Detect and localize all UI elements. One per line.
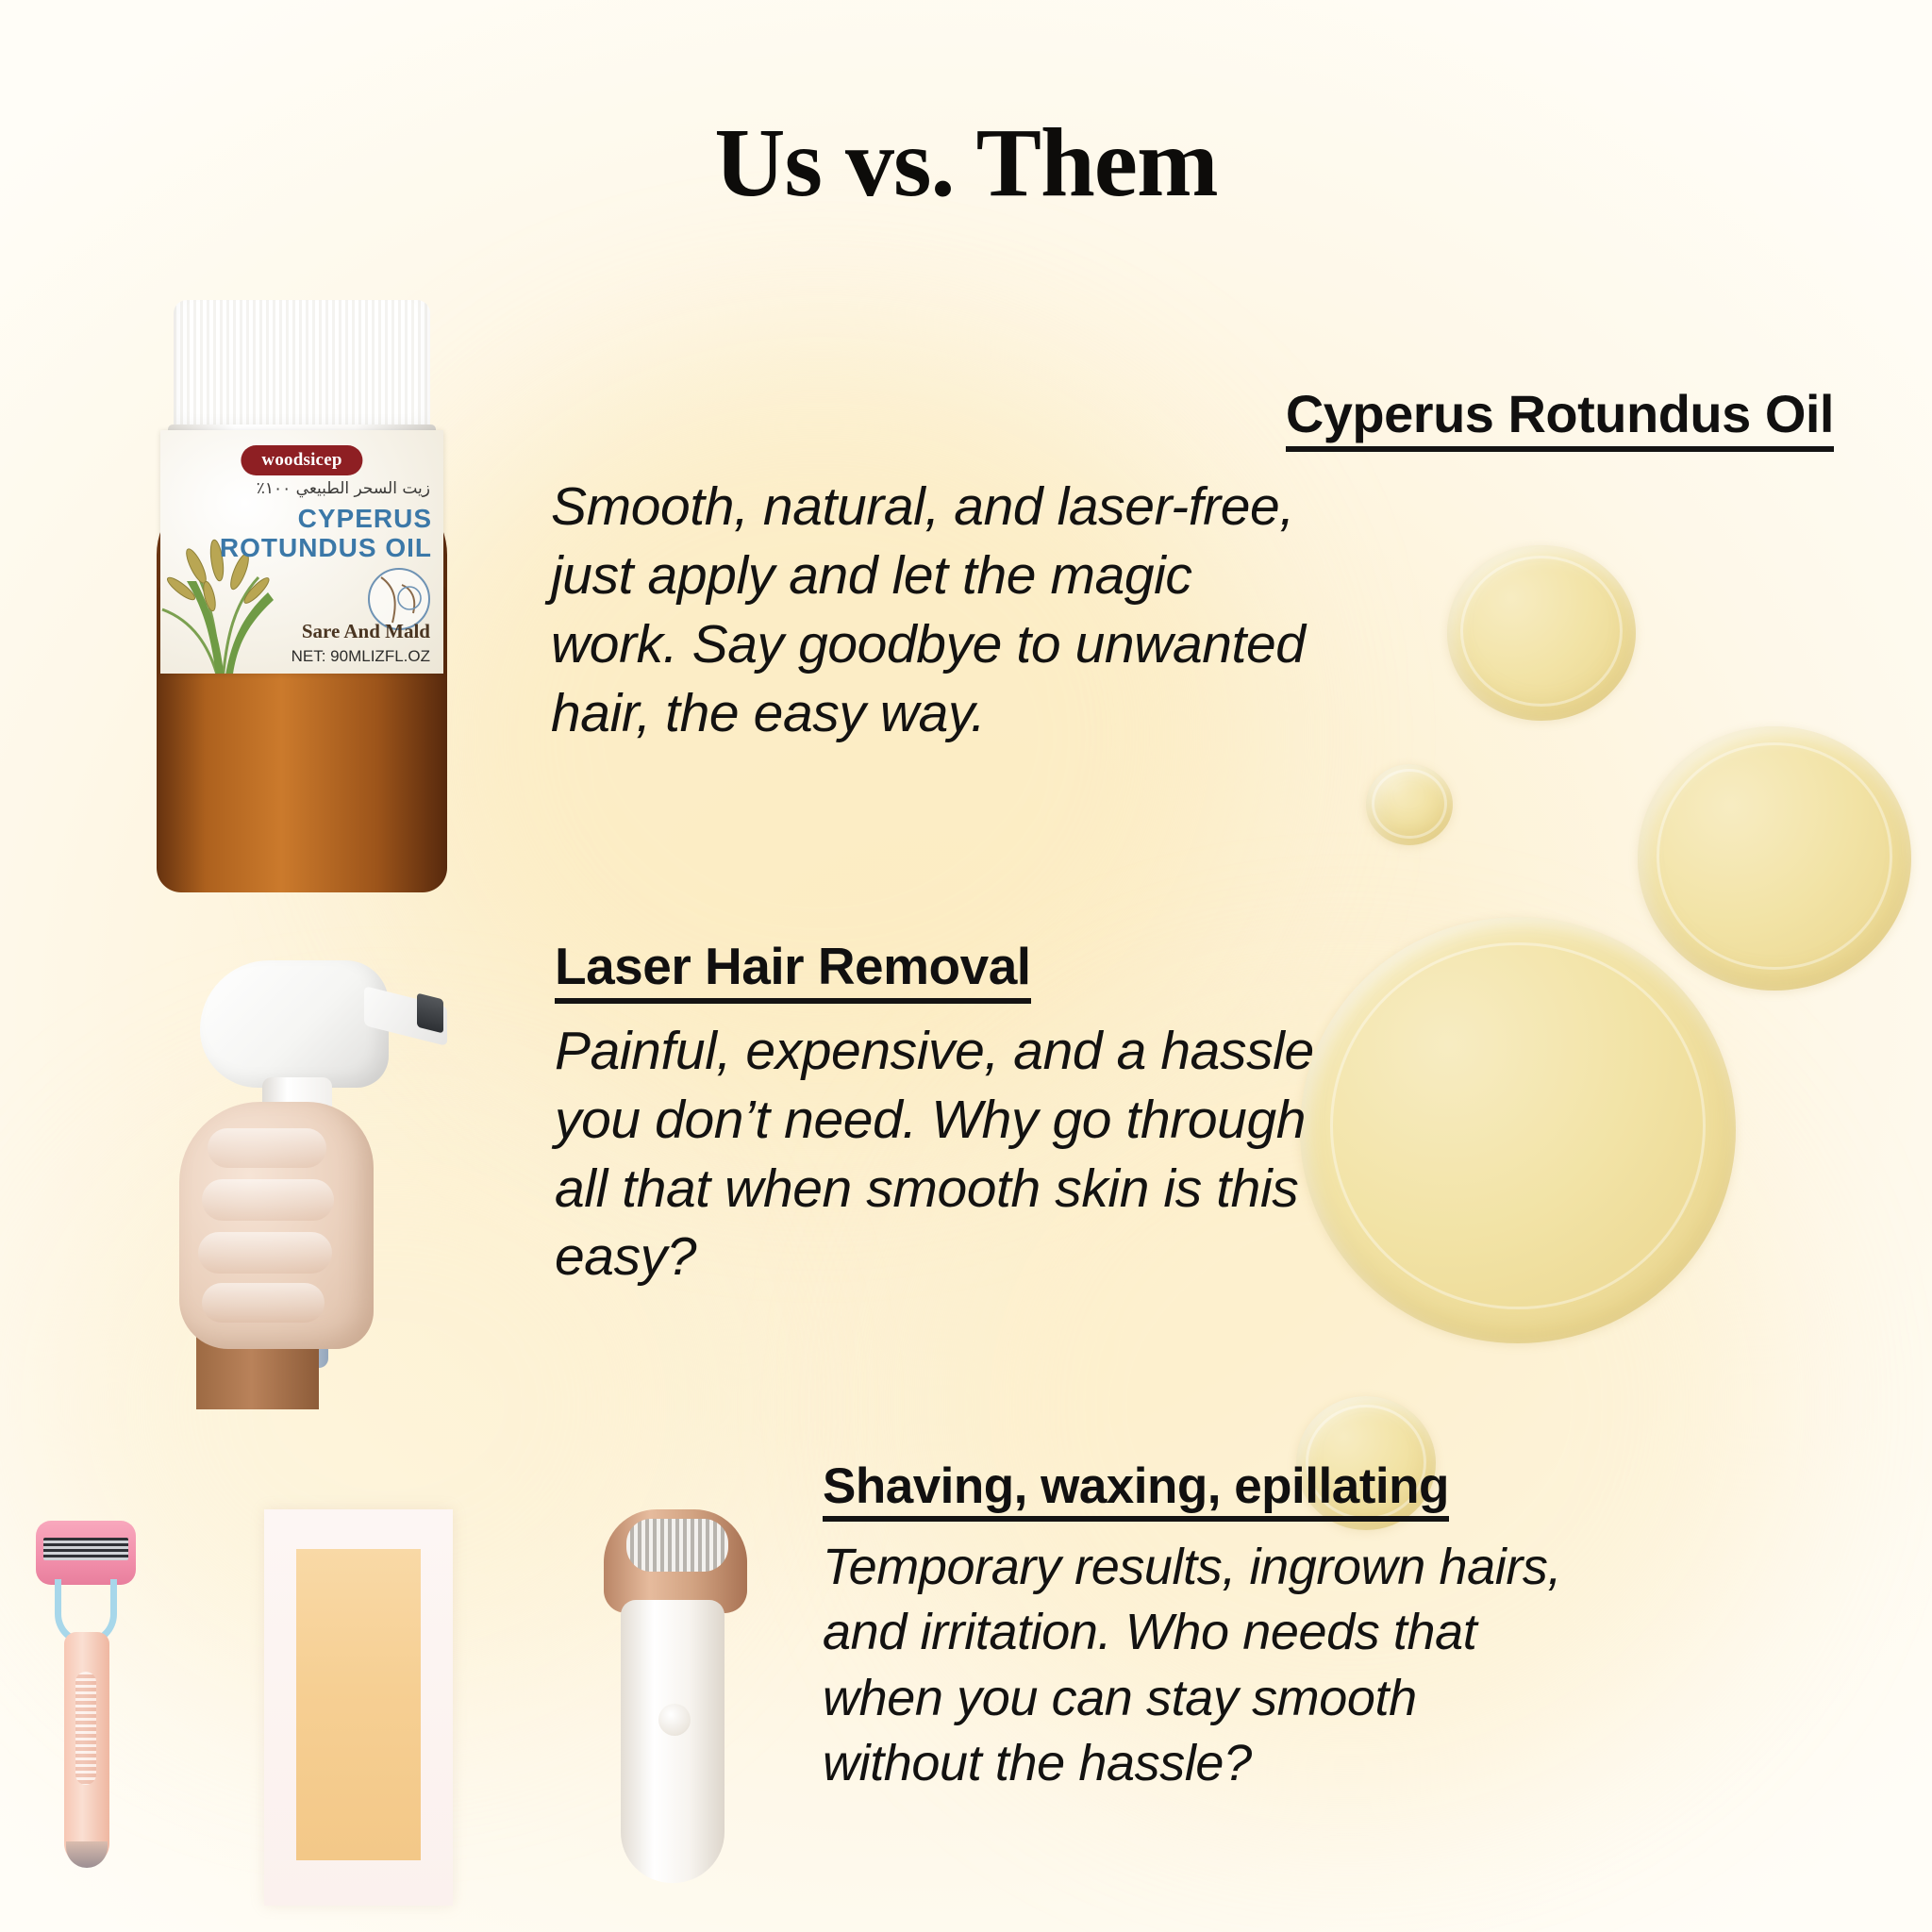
razor-image bbox=[28, 1521, 151, 1879]
epilator-body bbox=[621, 1600, 724, 1883]
body-line: when you can stay smooth bbox=[823, 1666, 1926, 1731]
section-heading-laser-hair-removal: Laser Hair Removal bbox=[555, 938, 1031, 1004]
page-title: Us vs. Them bbox=[0, 111, 1932, 214]
section-cyperus-rotundus-oil: Cyperus Rotundus Oil Smooth, natural, an… bbox=[551, 385, 1834, 748]
bottle-arabic-text: زيت السحر الطبيعي ١٠٠٪ bbox=[257, 479, 430, 498]
epilator-tweezer-rollers bbox=[626, 1519, 728, 1572]
bottle-tagline: Sare And Mald bbox=[302, 620, 430, 643]
section-laser-hair-removal: Laser Hair Removal Painful, expensive, a… bbox=[555, 938, 1800, 1291]
body-line: Painful, expensive, and a hassle bbox=[555, 1017, 1800, 1086]
section-body-shaving-waxing-epillating: Temporary results, ingrown hairs, and ir… bbox=[823, 1535, 1926, 1795]
body-line: you don’t need. Why go through bbox=[555, 1086, 1800, 1155]
body-line: Temporary results, ingrown hairs, bbox=[823, 1535, 1926, 1600]
bottle-brand-badge: woodsicep bbox=[241, 445, 362, 475]
knuckle bbox=[202, 1179, 334, 1221]
section-body-laser-hair-removal: Painful, expensive, and a hassle you don… bbox=[555, 1017, 1800, 1292]
body-line: all that when smooth skin is this bbox=[555, 1155, 1800, 1224]
product-bottle: woodsicep زيت السحر الطبيعي ١٠٠٪ CYPERUS… bbox=[151, 300, 453, 894]
body-line: without the hassle? bbox=[823, 1731, 1926, 1796]
laser-tip-icon bbox=[417, 993, 443, 1034]
bottle-label: woodsicep زيت السحر الطبيعي ١٠٠٪ CYPERUS… bbox=[160, 430, 443, 674]
section-shaving-waxing-epillating: Shaving, waxing, epillating Temporary re… bbox=[823, 1458, 1926, 1796]
body-line: easy? bbox=[555, 1223, 1800, 1291]
section-body-cyperus-rotundus-oil: Smooth, natural, and laser-free, just ap… bbox=[551, 473, 1834, 748]
bottle-product-name-line1: CYPERUS bbox=[298, 504, 432, 533]
body-line: and irritation. Who needs that bbox=[823, 1600, 1926, 1665]
section-heading-shaving-waxing-epillating: Shaving, waxing, epillating bbox=[823, 1458, 1449, 1522]
knuckle bbox=[202, 1283, 325, 1323]
laser-device-image bbox=[179, 960, 481, 1404]
section-heading-cyperus-rotundus-oil: Cyperus Rotundus Oil bbox=[1286, 385, 1834, 452]
oil-droplet-tiny bbox=[1366, 764, 1453, 845]
knuckle bbox=[208, 1128, 326, 1168]
epilator-image bbox=[594, 1509, 755, 1906]
razor-grip bbox=[75, 1672, 96, 1785]
body-line: hair, the easy way. bbox=[551, 679, 1834, 748]
bottle-product-name: CYPERUS ROTUNDUS OIL bbox=[220, 504, 432, 563]
laser-head bbox=[200, 960, 389, 1088]
epilator-power-button[interactable] bbox=[658, 1704, 691, 1736]
bottle-cap bbox=[174, 300, 430, 438]
bottle-net-contents: NET: 90MLIZFL.OZ bbox=[291, 647, 430, 666]
knuckle bbox=[198, 1232, 332, 1274]
bottle-product-name-line2: ROTUNDUS OIL bbox=[220, 533, 432, 562]
razor-blades bbox=[43, 1538, 128, 1560]
body-line: work. Say goodbye to unwanted bbox=[551, 610, 1834, 679]
body-line: just apply and let the magic bbox=[551, 541, 1834, 610]
wax-strip-wax-area bbox=[296, 1549, 421, 1860]
gloved-hand bbox=[179, 1102, 374, 1349]
infographic-canvas: Us vs. Them bbox=[0, 0, 1932, 1932]
body-line: Smooth, natural, and laser-free, bbox=[551, 473, 1834, 541]
razor-foot bbox=[66, 1841, 108, 1868]
wax-strip-image bbox=[264, 1509, 453, 1906]
